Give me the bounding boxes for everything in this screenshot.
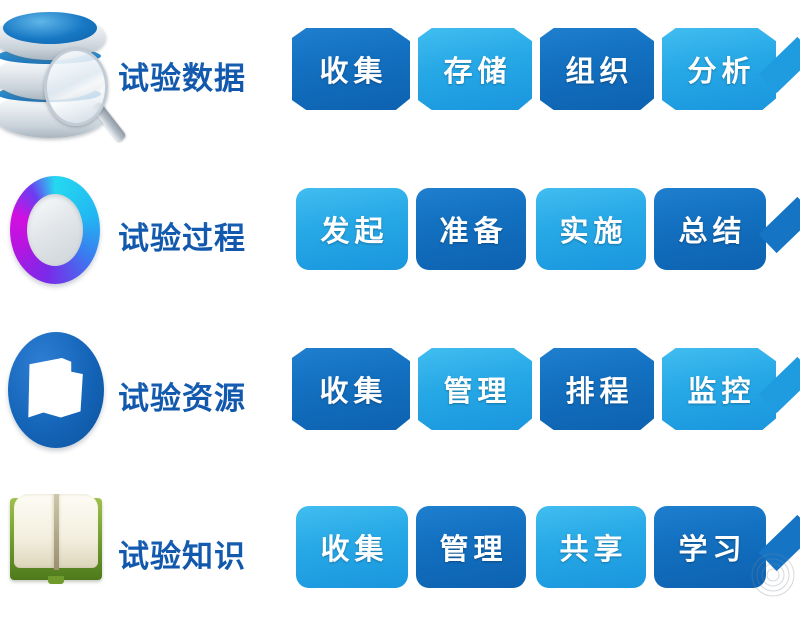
chip-group: 发起 准备 实施 总结 xyxy=(288,160,800,310)
gradient-ring-icon xyxy=(10,176,100,284)
category-row-shiyanguocheng: 试验过程 发起 准备 实施 总结 xyxy=(0,160,800,310)
chip-cunchu[interactable]: 存储 xyxy=(418,28,532,110)
chip-fenxi[interactable]: 分析 xyxy=(662,28,776,110)
diagram-board: 试验数据 收集 存储 组织 分析 试验过程 发起 准备 实施 总结 xyxy=(0,0,800,600)
chip-shouji[interactable]: 收集 xyxy=(292,28,410,110)
chip-group: 收集 存储 组织 分析 xyxy=(288,0,800,150)
document-circle-icon xyxy=(8,332,104,448)
chip-group: 收集 管理 排程 监控 xyxy=(288,320,800,470)
chip-shouji[interactable]: 收集 xyxy=(296,506,408,588)
chip-shishi[interactable]: 实施 xyxy=(536,188,646,270)
icon-cell xyxy=(0,0,120,150)
open-book-icon xyxy=(10,492,102,584)
chip-guanli[interactable]: 管理 xyxy=(418,348,532,430)
category-row-shiyanziyuan: 试验资源 收集 管理 排程 监控 xyxy=(0,320,800,470)
chip-guanli[interactable]: 管理 xyxy=(416,506,526,588)
category-label: 试验资源 xyxy=(118,320,283,470)
chip-zhunbei[interactable]: 准备 xyxy=(416,188,526,270)
chip-zuzhi[interactable]: 组织 xyxy=(540,28,654,110)
category-label: 试验知识 xyxy=(118,478,283,628)
category-row-shiyanzhishi: 试验知识 收集 管理 共享 学习 xyxy=(0,478,800,628)
magnifier-lens-icon xyxy=(44,48,108,126)
category-row-shiyanshuju: 试验数据 收集 存储 组织 分析 xyxy=(0,0,800,150)
category-label: 试验数据 xyxy=(118,0,283,150)
chip-paicheng[interactable]: 排程 xyxy=(540,348,654,430)
chip-zongjie[interactable]: 总结 xyxy=(654,188,766,270)
chip-shouji[interactable]: 收集 xyxy=(292,348,410,430)
database-search-icon xyxy=(0,8,112,143)
icon-cell xyxy=(0,478,120,628)
chip-faqi[interactable]: 发起 xyxy=(296,188,408,270)
chip-group: 收集 管理 共享 学习 xyxy=(288,478,800,628)
category-label: 试验过程 xyxy=(118,160,283,310)
chip-gongxiang[interactable]: 共享 xyxy=(536,506,646,588)
watermark-icon xyxy=(750,552,796,598)
chip-jiankong[interactable]: 监控 xyxy=(662,348,776,430)
icon-cell xyxy=(0,160,120,310)
icon-cell xyxy=(0,320,120,470)
